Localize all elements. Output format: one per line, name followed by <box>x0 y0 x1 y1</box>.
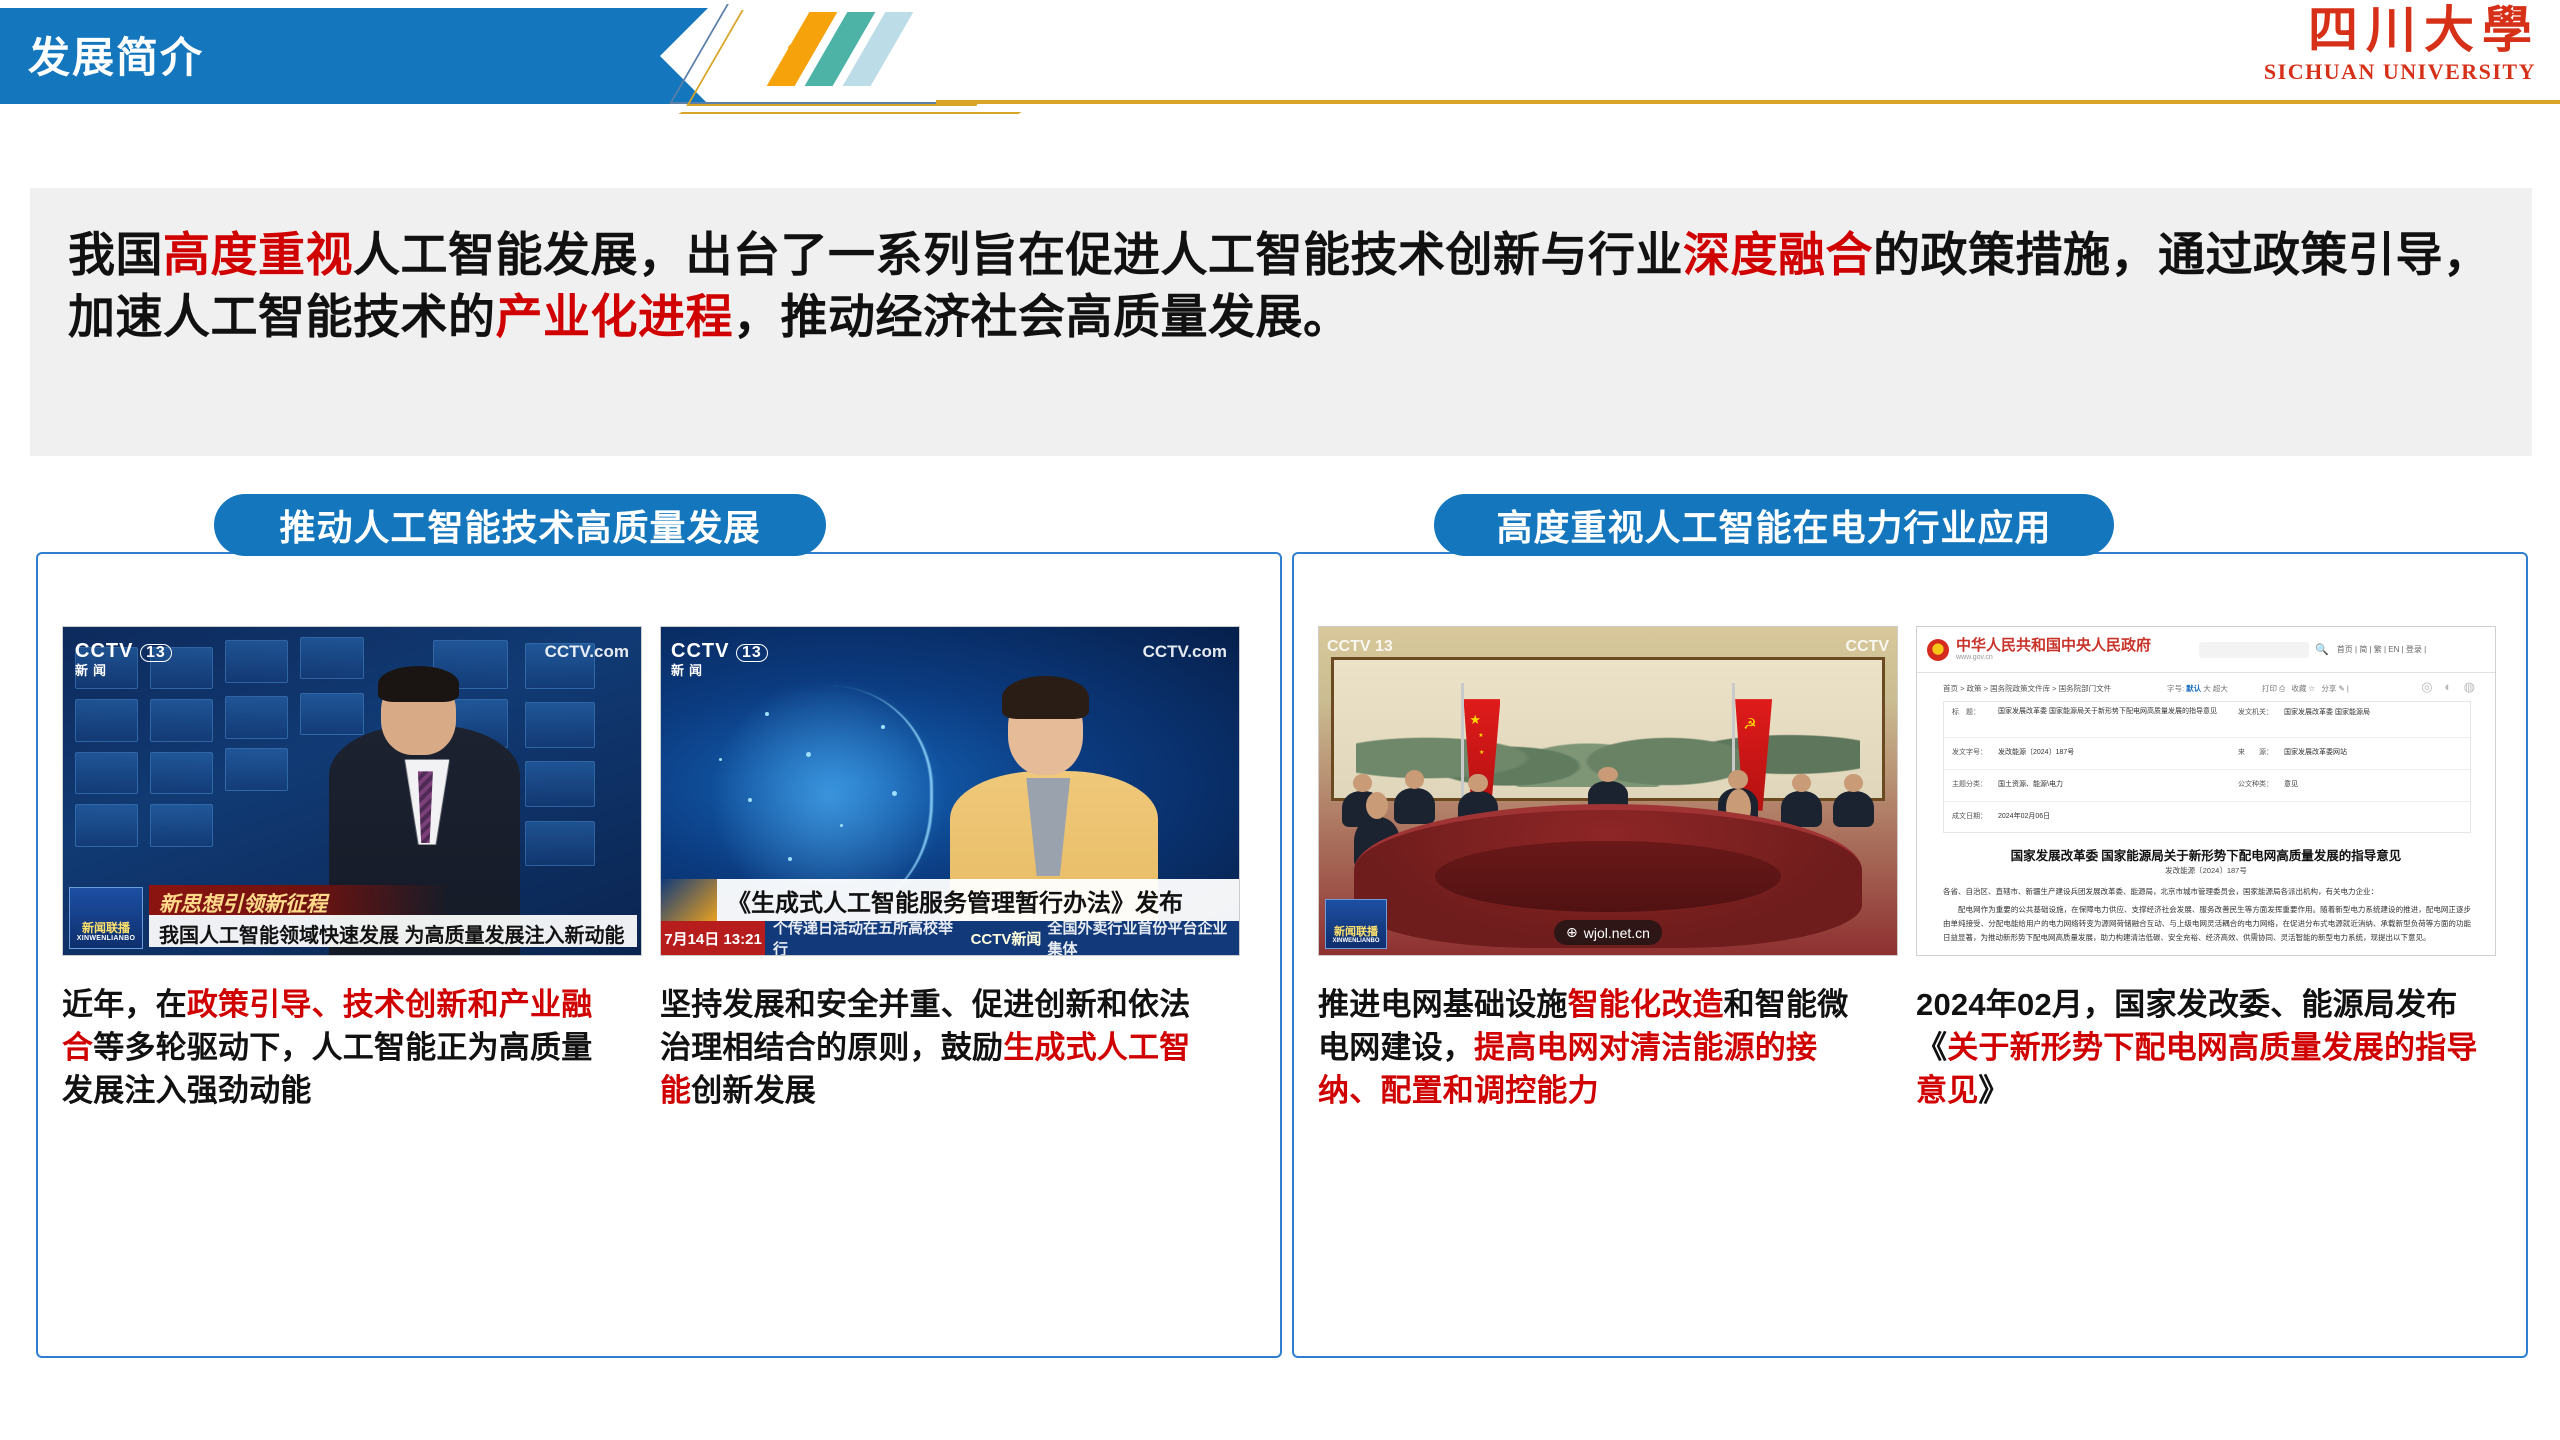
metadata-row: 成文日期： 2024年02月06日 <box>1944 802 2470 832</box>
gov-site-name: 中华人民共和国中央人民政府 <box>1956 638 2151 654</box>
flag-star-small: ★ <box>1478 733 1483 739</box>
university-logo-cn: 四川大學 <box>2140 4 2540 57</box>
section-pill-right-label: 高度重视人工智能在电力行业应用 <box>1496 499 2051 551</box>
headline-band: 《生成式人工智能服务管理暂行办法》发布 <box>661 879 1239 921</box>
section-pill-right: 高度重视人工智能在电力行业应用 <box>1434 494 2114 556</box>
thumbnail-cctv-ai: CCTV 13 新闻 CCTV.com 《生成式人工智能服务管理暂行办法》发布 … <box>660 626 1240 956</box>
program-badge: 新闻联播 XINWENLIANBO <box>1325 899 1387 949</box>
breadcrumb[interactable]: 首页 > 政策 > 国务院政策文件库 > 国务院部门文件 <box>1943 683 2111 694</box>
caption3-red1: 智能化改造 <box>1568 987 1724 1022</box>
thumbnail-meeting: ★ ★ ★ ☭ <box>1318 626 1898 956</box>
document-body-p1: 各省、自治区、直辖市、新疆生产建设兵团发展改革委、能源局，北京市城市管理委员会，… <box>1943 885 2471 899</box>
university-logo: 四川大學 SICHUAN UNIVERSITY <box>2140 4 2540 104</box>
ticker-right-text: 全国外卖行业首份平台企业集体 <box>1047 917 1239 956</box>
ticker-left-text: 个传递日活动在五所高校举行 <box>765 917 965 956</box>
chyron-kicker: 新思想引领新征程 <box>149 885 449 915</box>
chyron: 新闻联播 XINWENLIANBO 新思想引领新征程 我国人工智能领域快速发展 … <box>63 881 641 955</box>
ai-headline: 《生成式人工智能服务管理暂行办法》发布 <box>717 883 1183 918</box>
chyron-headline: 我国人工智能领域快速发展 为高质量发展注入新动能 <box>149 915 637 947</box>
national-emblem-icon <box>1927 639 1949 661</box>
table-center <box>1435 841 1781 913</box>
intro-text-1a: 我国 <box>68 228 163 281</box>
university-logo-en: SICHUAN UNIVERSITY <box>2140 59 2540 85</box>
document-title: 国家发展改革委 国家能源局关于新形势下配电网高质量发展的指导意见 <box>1917 845 2495 864</box>
cctv-com-logo: CCTV.com <box>1143 643 1227 660</box>
search-icon[interactable]: 🔍 <box>2315 643 2329 656</box>
panel-left: CCTV 13 新闻 CCTV.com 新闻联播 XINWENLIANBO 新思… <box>36 552 1282 1358</box>
search-input[interactable] <box>2199 642 2309 658</box>
thumbnail-cctv-studio: CCTV 13 新闻 CCTV.com 新闻联播 XINWENLIANBO 新思… <box>62 626 642 956</box>
anchor2-hair <box>1002 676 1089 719</box>
slide-root: 发展简介 四川大學 SICHUAN UNIVERSITY 我国高度重视人工智能发… <box>0 0 2560 1440</box>
caption3-a: 推进电网基础设施 <box>1318 987 1568 1022</box>
metadata-row: 主题分类： 国土资源、能源\电力 公文种类： 意见 <box>1944 770 2470 802</box>
caption1-b: 等多轮驱动下，人工智能正为高质量发展注入强劲动能 <box>62 1030 592 1108</box>
site-watermark: ⊕ wjol.net.cn <box>1554 920 1662 945</box>
hammer-sickle-icon: ☭ <box>1743 717 1756 732</box>
metadata-row: 发文字号： 发改能源〔2024〕187号 来 源： 国家发展改革委网站 <box>1944 738 2470 770</box>
ticker-brand: CCTV新闻 <box>965 928 1048 949</box>
fontsize-toolbar[interactable]: 字号: 默认 大 超大 <box>2167 683 2228 694</box>
cctv-com-logo: CCTV.com <box>545 643 629 660</box>
header-gold-diagonal <box>678 112 1021 114</box>
seated-person <box>1394 788 1434 824</box>
intro-highlight-1: 高度重视 <box>163 228 353 281</box>
ai-face-profile <box>736 686 933 909</box>
intro-box: 我国高度重视人工智能发展，出台了一系列旨在促进人工智能技术创新与行业深度融合的政… <box>30 188 2532 456</box>
caption2-b: 创新发展 <box>691 1073 816 1108</box>
document-metadata-table: 标 题： 国家发展改革委 国家能源局关于新形势下配电网高质量发展的指导意见 发文… <box>1943 701 2471 833</box>
section-pill-left-label: 推动人工智能技术高质量发展 <box>279 499 760 551</box>
seated-person <box>1781 791 1821 827</box>
document-body: 各省、自治区、直辖市、新疆生产建设兵团发展改革委、能源局，北京市城市管理委员会，… <box>1943 885 2471 949</box>
intro-text-1c: 的政策措施，通 <box>1873 228 2206 281</box>
print-share-toolbar[interactable]: 打印 ⎙ 收藏 ☆ 分享 ✎ | <box>2262 683 2349 694</box>
document-number: 发改能源〔2024〕187号 <box>1917 865 2495 876</box>
intro-line-1: 我国高度重视人工智能发展，出台了一系列旨在促进人工智能技术创新与行业深度融合的政… <box>68 224 2494 348</box>
anchor-hair <box>378 666 459 702</box>
social-icons[interactable]: ◎ ◐ ◍ <box>2421 679 2479 695</box>
card-cctv-ai: CCTV 13 新闻 CCTV.com 《生成式人工智能服务管理暂行办法》发布 … <box>660 626 1240 1112</box>
panel-right: ★ ★ ★ ☭ <box>1292 552 2528 1358</box>
flagpole-left <box>1461 683 1464 801</box>
caption-gov: 2024年02月，国家发改委、能源局发布《关于新形势下配电网高质量发展的指导意见… <box>1916 984 2486 1112</box>
metadata-row: 标 题： 国家发展改革委 国家能源局关于新形势下配电网高质量发展的指导意见 发文… <box>1944 702 2470 738</box>
program-badge: 新闻联播 XINWENLIANBO <box>69 887 143 949</box>
header-decoration <box>640 0 1200 130</box>
deco-dot <box>788 44 797 53</box>
cctv13-logo: CCTV 13 新闻 <box>671 641 768 677</box>
cctv13-logo: CCTV 13 新闻 <box>75 641 172 677</box>
section-pill-left: 推动人工智能技术高质量发展 <box>214 494 826 556</box>
gov-site-url: www.gov.cn <box>1956 654 2151 661</box>
intro-text-1b: 人工智能发展，出台了一系列旨在促进人工智能技术创新与行业 <box>353 228 1683 281</box>
card-meeting: ★ ★ ★ ☭ <box>1318 626 1898 1112</box>
news-ticker: 7月14日 13:21 个传递日活动在五所高校举行 CCTV新闻 全国外卖行业首… <box>661 921 1239 955</box>
page-title: 发展简介 <box>28 24 204 85</box>
flag-star-large: ★ <box>1469 713 1481 726</box>
document-body-p2: 配电网作为重要的公共基础设施，在保障电力供应、支撑经济社会发展、服务改善民生等方… <box>1943 903 2471 945</box>
globe-icon: ⊕ <box>1566 924 1578 941</box>
card-gov-website: 中华人民共和国中央人民政府 www.gov.cn 🔍 首页 | 简 | 繁 | … <box>1916 626 2496 1112</box>
cctv-logo-corner: CCTV <box>1845 639 1889 655</box>
card-cctv-studio: CCTV 13 新闻 CCTV.com 新闻联播 XINWENLIANBO 新思… <box>62 626 642 1112</box>
caption-cctv-ai: 坚持发展和安全并重、促进创新和依法治理相结合的原则，鼓励生成式人工智能创新发展 <box>660 984 1220 1112</box>
flag-star-small: ★ <box>1479 750 1484 756</box>
seated-person <box>1833 791 1873 827</box>
intro-highlight-3: 产业化进程 <box>496 290 734 343</box>
caption-meeting: 推进电网基础设施智能化改造和智能微电网建设，提高电网对清洁能源的接纳、配置和调控… <box>1318 984 1878 1112</box>
intro-highlight-2: 深度融合 <box>1683 228 1873 281</box>
caption-cctv-studio: 近年，在政策引导、技术创新和产业融合等多轮驱动下，人工智能正为高质量发展注入强劲… <box>62 984 622 1112</box>
caption1-a: 近年，在 <box>62 987 187 1022</box>
cctv13-logo: CCTV 13 <box>1327 639 1393 655</box>
caption1-red1: 政策引导、技术创新和 <box>187 987 499 1022</box>
ticker-time: 7月14日 13:21 <box>661 928 765 949</box>
gov-site-header: 中华人民共和国中央人民政府 www.gov.cn 🔍 首页 | 简 | 繁 | … <box>1917 627 2495 673</box>
thumbnail-gov-website: 中华人民共和国中央人民政府 www.gov.cn 🔍 首页 | 简 | 繁 | … <box>1916 626 2496 956</box>
gov-nav-links[interactable]: 首页 | 简 | 繁 | EN | 登录 | <box>2337 644 2427 655</box>
caption4-b: 》 <box>1978 1073 2009 1108</box>
intro-text-2b: ，推动经济社会高质量发展。 <box>733 290 1351 343</box>
